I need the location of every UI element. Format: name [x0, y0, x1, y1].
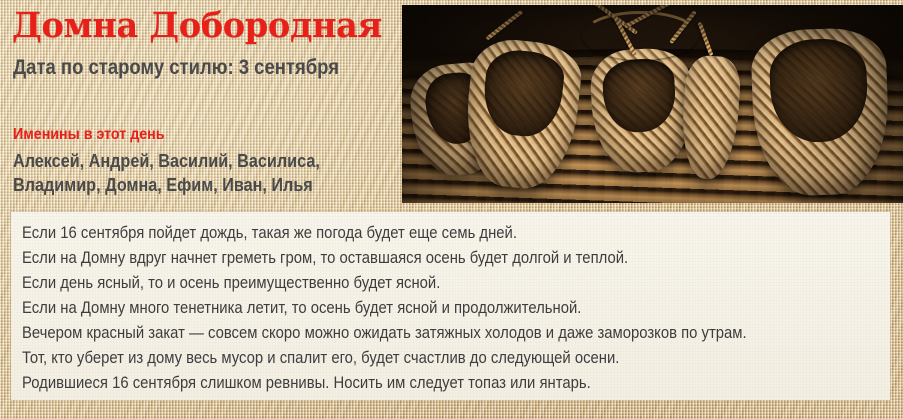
nameday-names-line: Владимир, Домна, Ефим, Иван, Илья — [13, 173, 355, 197]
omen-item: Если на Домну вдруг начнет греметь гром,… — [22, 246, 794, 271]
bast-shoe-opening — [602, 57, 678, 134]
omen-item: Тот, кто уберет из дому весь мусор и спа… — [22, 346, 794, 371]
old-style-date: Дата по старому стилю: 3 сентября — [13, 55, 353, 81]
omen-item: Если на Домну много тенетника летит, то … — [22, 296, 794, 321]
omen-item: Если 16 сентября пойдет дождь, такая же … — [22, 221, 794, 246]
page-title: Домна Добородная — [12, 4, 379, 48]
holiday-info-card: Домна Добородная Дата по старому стилю: … — [0, 0, 903, 419]
omens-list: Если 16 сентября пойдет дождь, такая же … — [22, 221, 880, 396]
omen-item: Родившиеся 16 сентября слишком ревнивы. … — [22, 371, 794, 396]
omen-item: Если день ясный, то и осень преимуществе… — [22, 271, 794, 296]
omens-panel: Если 16 сентября пойдет дождь, такая же … — [11, 212, 890, 400]
nameday-names-line: Алексей, Андрей, Василий, Василиса, — [13, 149, 355, 173]
nameday-heading: Именины в этот день — [13, 125, 165, 145]
bast-shoes-photo — [402, 5, 903, 203]
bast-shoe-opening — [480, 47, 566, 140]
bast-shoe-opening — [768, 37, 869, 143]
nameday-names-list: Алексей, Андрей, Василий, Василиса, Влад… — [13, 149, 355, 197]
omen-item: Вечером красный закат — совсем скоро мож… — [22, 321, 794, 346]
header-text-column: Домна Добородная Дата по старому стилю: … — [0, 0, 402, 206]
